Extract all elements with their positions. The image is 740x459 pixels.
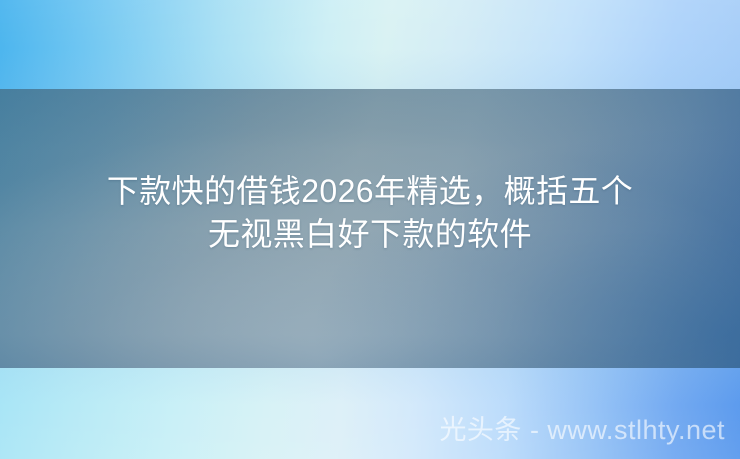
- cover-image-canvas: 下款快的借钱2026年精选，概括五个 无视黑白好下款的软件 光头条 - www.…: [0, 0, 740, 459]
- top-gradient-band: [0, 0, 740, 89]
- bottom-gradient-band: [0, 368, 740, 459]
- site-watermark: 光头条 - www.stlhty.net: [439, 415, 725, 445]
- headline-text: 下款快的借钱2026年精选，概括五个 无视黑白好下款的软件: [0, 170, 740, 256]
